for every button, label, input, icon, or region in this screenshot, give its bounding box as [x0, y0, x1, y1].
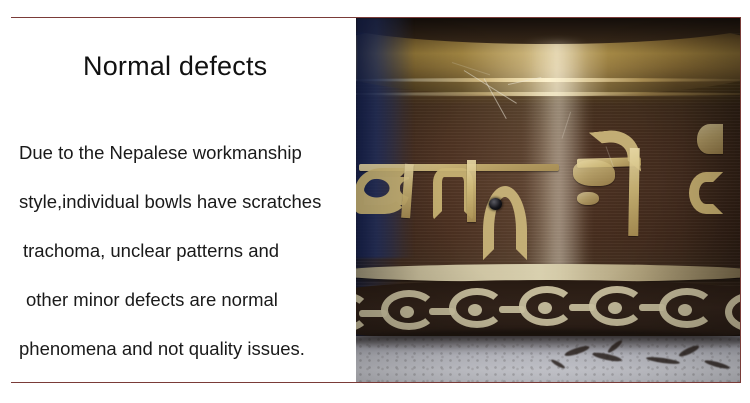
script-glyph [356, 168, 409, 214]
script-glyph [483, 186, 527, 260]
spiral-motif [589, 286, 645, 326]
photo-content [356, 18, 740, 382]
script-glyph [628, 148, 640, 236]
script-glyph [467, 160, 476, 222]
casting-pit-defect [489, 198, 502, 210]
body-line: style,individual bowls have scratches [11, 177, 356, 226]
spiral-motif [725, 292, 740, 332]
script-glyph [697, 124, 723, 154]
spiral-motif [519, 286, 575, 326]
singing-bowl-photo [356, 18, 740, 382]
body-line: other minor defects are normal [11, 275, 356, 324]
text-panel: Normal defects Due to the Nepalese workm… [11, 18, 356, 382]
spiral-motif [449, 288, 505, 328]
gold-script-inscription [356, 138, 740, 268]
page-title: Normal defects [83, 51, 267, 82]
body-text-block: Due to the Nepalese workmanship style,in… [11, 128, 356, 373]
bowl-contact-shadow [356, 330, 740, 352]
spiral-motif [659, 288, 715, 328]
script-glyph [689, 172, 723, 214]
worn-inlay-chip [577, 192, 599, 205]
body-line: Due to the Nepalese workmanship [11, 128, 356, 177]
product-detail-slide: Normal defects Due to the Nepalese workm… [0, 0, 750, 403]
body-line: trachoma, unclear patterns and [11, 226, 356, 275]
body-line: phenomena and not quality issues. [11, 324, 356, 373]
